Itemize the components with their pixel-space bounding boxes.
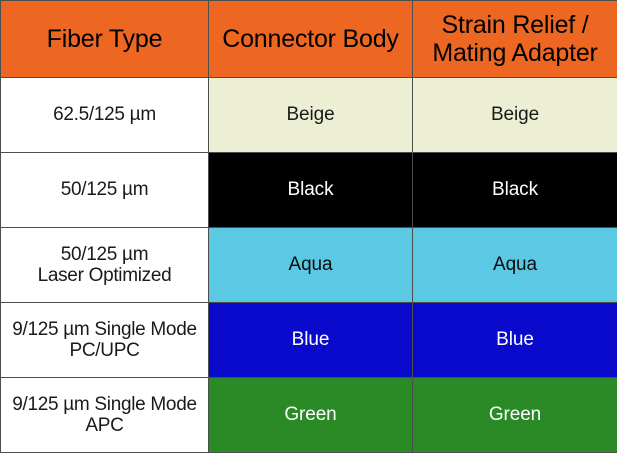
cell-fiber-type: 62.5/125 µm (1, 78, 209, 153)
cell-connector-body: Aqua (209, 228, 413, 303)
cell-strain-relief: Black (413, 153, 617, 228)
cell-strain-relief: Green (413, 378, 617, 453)
column-header-fiber-type-line-1: Fiber Type (3, 25, 206, 53)
fiber-type-line-2: APC (3, 415, 206, 436)
column-header-strain-relief-line-1: Strain Relief / (415, 11, 615, 39)
cell-fiber-type: 50/125 µm Laser Optimized (1, 228, 209, 303)
cell-strain-relief: Beige (413, 78, 617, 153)
table-row: 50/125 µm Black Black (1, 153, 617, 228)
table-row: 62.5/125 µm Beige Beige (1, 78, 617, 153)
fiber-color-code-table: Fiber Type Connector Body Strain Relief … (0, 0, 617, 453)
fiber-type-line-2: Laser Optimized (3, 265, 206, 286)
fiber-type-line-1: 62.5/125 µm (3, 104, 206, 125)
column-header-strain-relief-line-2: Mating Adapter (415, 39, 615, 67)
fiber-type-line-1: 50/125 µm (3, 179, 206, 200)
table-header: Fiber Type Connector Body Strain Relief … (1, 1, 617, 78)
cell-connector-body: Blue (209, 303, 413, 378)
column-header-strain-relief: Strain Relief / Mating Adapter (413, 1, 617, 78)
column-header-connector-body: Connector Body (209, 1, 413, 78)
table-row: 9/125 µm Single Mode PC/UPC Blue Blue (1, 303, 617, 378)
cell-fiber-type: 9/125 µm Single Mode APC (1, 378, 209, 453)
cell-fiber-type: 50/125 µm (1, 153, 209, 228)
cell-fiber-type: 9/125 µm Single Mode PC/UPC (1, 303, 209, 378)
table-body: 62.5/125 µm Beige Beige 50/125 µm Black … (1, 78, 617, 453)
header-row: Fiber Type Connector Body Strain Relief … (1, 1, 617, 78)
fiber-type-line-1: 9/125 µm Single Mode (3, 319, 206, 340)
column-header-fiber-type: Fiber Type (1, 1, 209, 78)
cell-connector-body: Black (209, 153, 413, 228)
fiber-type-line-2: PC/UPC (3, 340, 206, 361)
fiber-type-line-1: 9/125 µm Single Mode (3, 394, 206, 415)
fiber-type-line-1: 50/125 µm (3, 244, 206, 265)
column-header-connector-body-line-1: Connector Body (211, 25, 410, 53)
cell-connector-body: Beige (209, 78, 413, 153)
cell-strain-relief: Blue (413, 303, 617, 378)
table-row: 9/125 µm Single Mode APC Green Green (1, 378, 617, 453)
cell-connector-body: Green (209, 378, 413, 453)
table-row: 50/125 µm Laser Optimized Aqua Aqua (1, 228, 617, 303)
cell-strain-relief: Aqua (413, 228, 617, 303)
